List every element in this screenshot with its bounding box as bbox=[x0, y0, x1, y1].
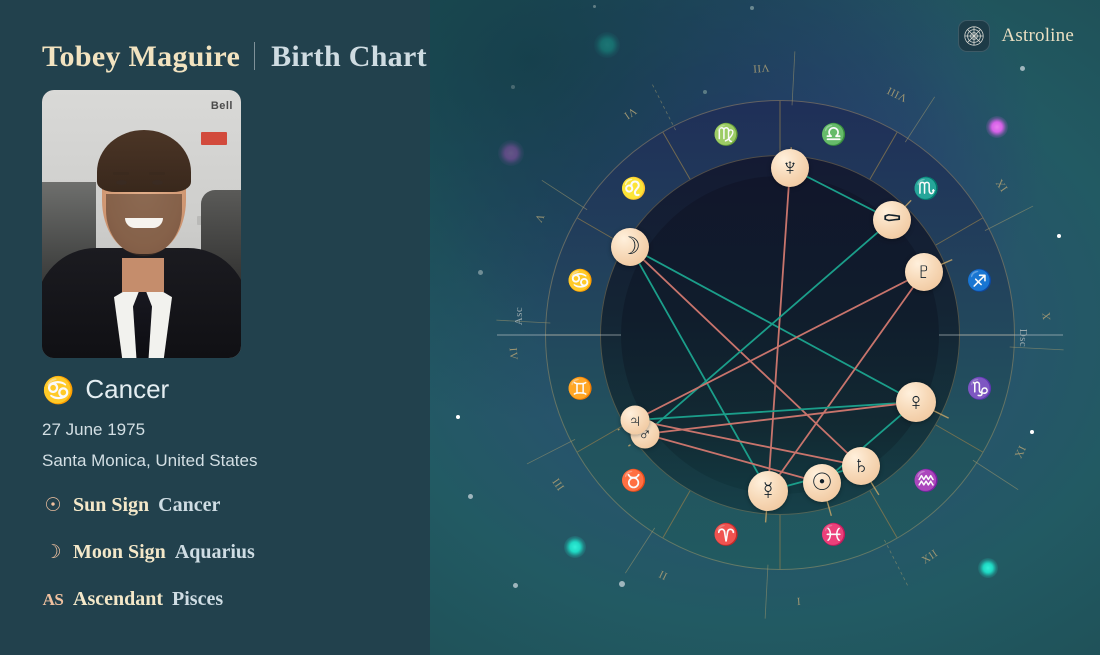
house-number-iv: IV bbox=[506, 347, 519, 360]
attribute-value: Cancer bbox=[158, 494, 220, 517]
photo-eye bbox=[152, 180, 163, 185]
aspect-line-harmonious bbox=[645, 220, 892, 434]
star-dot bbox=[513, 583, 518, 588]
glow-star-magenta-left bbox=[498, 140, 524, 166]
astrolabe-icon bbox=[958, 20, 990, 52]
photo-eye bbox=[116, 180, 127, 185]
person-name: Tobey Maguire bbox=[42, 40, 240, 73]
attribute-sun-sign: ☉ Sun Sign Cancer bbox=[42, 494, 220, 517]
house-number-vii: VII bbox=[753, 61, 771, 74]
photo-backdrop-mark bbox=[201, 132, 227, 145]
ascendant-icon: AS bbox=[42, 590, 64, 610]
house-number-x: X bbox=[1041, 312, 1054, 321]
planet-moon[interactable]: ☽ bbox=[611, 228, 649, 266]
star-dot bbox=[478, 270, 483, 275]
aspect-line-tense bbox=[645, 402, 916, 434]
aspect-line-tense bbox=[645, 434, 822, 483]
star-dot bbox=[703, 90, 707, 94]
birth-place: Santa Monica, United States bbox=[42, 451, 257, 471]
planet-saturn[interactable]: ♄ bbox=[842, 447, 880, 485]
birth-date: 27 June 1975 bbox=[42, 420, 145, 440]
planet-pluto[interactable]: ♇ bbox=[905, 253, 943, 291]
natal-chart-wheel[interactable]: ♈♉♊♋♌♍♎♏♐♑♒♓ IIIIIIIVVVIVIIVIIIIXXXIXII … bbox=[545, 100, 1015, 570]
photo-neck bbox=[122, 258, 164, 292]
planet-venus[interactable]: ♀ bbox=[896, 382, 936, 422]
star-dot bbox=[750, 6, 754, 10]
attribute-value: Pisces bbox=[172, 588, 223, 611]
brand: Astroline bbox=[958, 20, 1074, 52]
photo-tie bbox=[133, 292, 152, 358]
photo-brow bbox=[149, 172, 165, 175]
glow-star-cyan-top bbox=[594, 32, 620, 58]
star-dot bbox=[456, 415, 460, 419]
sun-icon: ☉ bbox=[42, 494, 64, 517]
star-dot bbox=[511, 85, 515, 89]
birth-chart-card: Tobey MaguireBirth Chart Astroline Bell bbox=[0, 0, 1100, 655]
planet-mercury[interactable]: ☿ bbox=[748, 471, 788, 511]
title-divider bbox=[254, 42, 255, 70]
moon-icon: ☽ bbox=[42, 541, 64, 564]
star-dot bbox=[1057, 234, 1061, 238]
planet-chiron[interactable]: ⚰ bbox=[873, 201, 911, 239]
cancer-glyph-icon: ♋ bbox=[42, 377, 74, 403]
attribute-label: Ascendant bbox=[73, 588, 163, 611]
aspect-line-tense bbox=[768, 168, 790, 491]
planet-sun[interactable]: ☉ bbox=[803, 464, 841, 502]
sun-sign-heading: ♋ Cancer bbox=[42, 374, 169, 405]
attribute-ascendant: AS Ascendant Pisces bbox=[42, 588, 223, 611]
photo-brow bbox=[113, 172, 129, 175]
star-dot bbox=[1030, 430, 1034, 434]
planet-neptune[interactable]: ♆ bbox=[771, 149, 809, 187]
attribute-label: Moon Sign bbox=[73, 541, 166, 564]
chart-label: Birth Chart bbox=[271, 40, 427, 73]
aspect-line-tense bbox=[635, 420, 861, 466]
aspect-line-tense bbox=[635, 272, 924, 420]
photo-backdrop-logo: Bell bbox=[211, 100, 233, 112]
brand-name: Astroline bbox=[1001, 25, 1074, 47]
attribute-moon-sign: ☽ Moon Sign Aquarius bbox=[42, 541, 255, 564]
photo-mouth bbox=[125, 218, 163, 228]
house-number-i: I bbox=[796, 596, 801, 608]
star-dot bbox=[468, 494, 473, 499]
attribute-label: Sun Sign bbox=[73, 494, 149, 517]
descendant-axis-label: Dsc bbox=[1017, 329, 1029, 348]
star-dot bbox=[619, 581, 625, 587]
star-dot bbox=[593, 5, 596, 8]
aspect-line-tense bbox=[630, 247, 861, 466]
planet-jupiter[interactable]: ♃ bbox=[621, 406, 650, 435]
ascendant-axis-label: Asc bbox=[513, 307, 525, 326]
page-title: Tobey MaguireBirth Chart bbox=[42, 40, 427, 74]
star-dot bbox=[1020, 66, 1025, 71]
sun-sign-name: Cancer bbox=[85, 374, 169, 405]
avatar: Bell bbox=[42, 90, 241, 358]
aspect-line-harmonious bbox=[635, 402, 916, 420]
attribute-value: Aquarius bbox=[175, 541, 255, 564]
